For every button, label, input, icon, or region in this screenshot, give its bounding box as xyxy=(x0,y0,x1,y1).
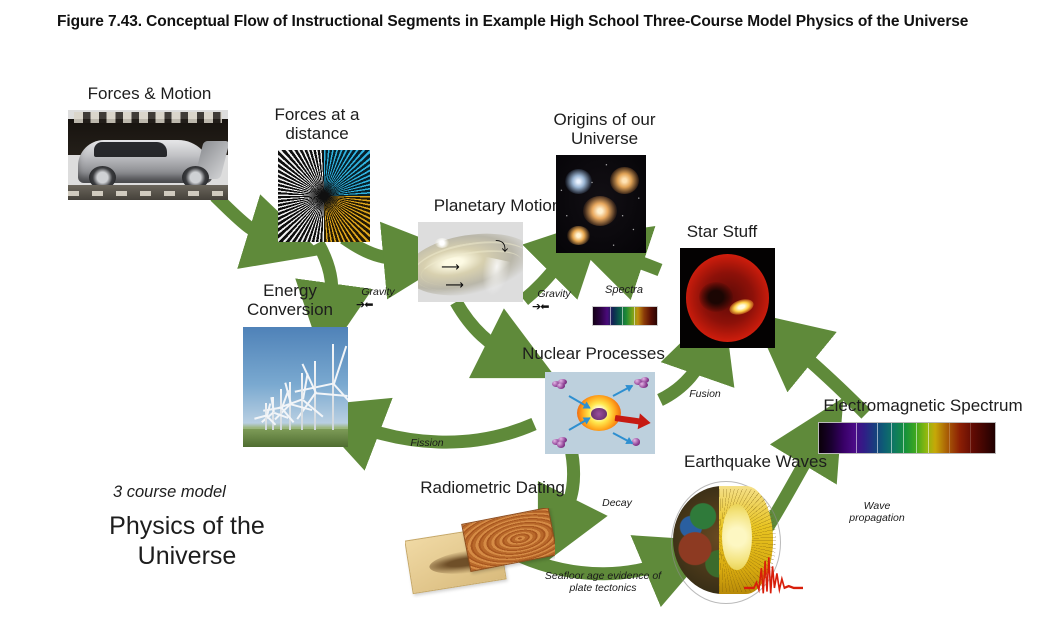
label-em-spectrum: Electromagnetic Spectrum xyxy=(800,396,1046,415)
label-nuclear-processes: Nuclear Processes xyxy=(506,344,681,363)
image-emission-spectrum-strip xyxy=(818,422,996,454)
brand-subtitle: 3 course model xyxy=(113,483,226,502)
edge-label-fusion: Fusion xyxy=(678,388,732,400)
edge-label-gravity-1: Gravity xyxy=(352,286,404,298)
seismograph-trace xyxy=(744,552,803,597)
edge-label-fission: Fission xyxy=(400,437,454,449)
label-origins-universe: Origins of our Universe xyxy=(532,110,677,148)
image-small-spectrum-strip xyxy=(592,306,658,326)
gravity-arrow-glyph-1: ➔⬅ xyxy=(356,300,372,311)
edge-label-gravity-2: Gravity xyxy=(528,288,580,300)
label-radiometric-dating: Radiometric Dating xyxy=(390,478,595,497)
label-forces-at-distance: Forces at a distance xyxy=(252,105,382,143)
figure-title: Figure 7.43. Conceptual Flow of Instruct… xyxy=(57,12,1012,33)
brand-title: Physics of the Universe xyxy=(72,512,302,571)
label-forces-motion: Forces & Motion xyxy=(62,84,237,103)
label-earthquake-waves: Earthquake Waves xyxy=(663,452,848,471)
label-spectra: Spectra xyxy=(588,284,660,297)
image-nuclear-fission-diagram xyxy=(545,372,655,454)
image-magnetic-field-lines xyxy=(278,150,370,242)
label-star-stuff: Star Stuff xyxy=(666,222,778,241)
label-energy-conversion: Energy Conversion xyxy=(222,281,358,319)
edge-label-seafloor: Seafloor age evidence of plate tectonics xyxy=(518,570,688,595)
image-galaxies xyxy=(556,155,646,253)
edge-label-decay: Decay xyxy=(592,497,642,509)
image-sun xyxy=(680,248,775,348)
image-wind-turbine-farm xyxy=(243,327,348,447)
edge-label-wave-propagation: Wave propagation xyxy=(836,500,918,525)
gravity-arrow-glyph-2: ➔⬅ xyxy=(532,302,548,313)
label-planetary-motion: Planetary Motion xyxy=(420,196,575,215)
image-accretion-disk: ⟶ ⟶ ⤵ xyxy=(418,222,523,302)
image-earth-cutaway-seismograph xyxy=(668,478,803,610)
image-crash-test-car xyxy=(68,110,228,200)
